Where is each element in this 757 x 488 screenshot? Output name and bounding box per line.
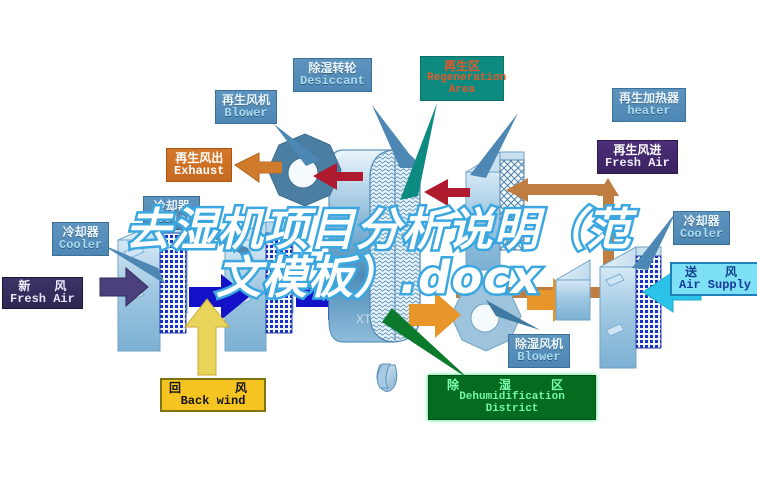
label-air-supply-en: Air Supply	[679, 279, 751, 292]
label-regen-heater-en: heater	[619, 105, 679, 118]
label-regen-exhaust-cn: 再生风出	[174, 152, 224, 165]
label-regen-blower-en: Blower	[222, 107, 270, 120]
label-dehum-district-en: Dehumidification District	[439, 392, 585, 416]
label-fresh-air: 新 风 Fresh Air	[2, 277, 83, 309]
label-cooler-mid-en: Cooler	[150, 213, 193, 226]
watermark-text: XT	[356, 312, 372, 326]
label-desiccant: 除湿转轮 Desiccant	[293, 58, 372, 92]
diagram-graphics: XT	[0, 0, 757, 488]
label-back-wind: 回 风 Back wind	[160, 378, 266, 412]
label-back-wind-en: Back wind	[169, 395, 257, 408]
label-regen-fresh-air-cn: 再生风进	[605, 144, 670, 157]
label-air-supply-cn: 送 风	[679, 266, 751, 279]
label-cooler-right-en: Cooler	[680, 228, 723, 241]
label-cooler-left: 冷却器 Cooler	[52, 222, 109, 256]
label-cooler-left-en: Cooler	[59, 239, 102, 252]
label-desiccant-cn: 除湿转轮	[300, 62, 365, 75]
label-cooler-left-cn: 冷却器	[59, 226, 102, 239]
label-desiccant-en: Desiccant	[300, 75, 365, 88]
label-regen-fresh-air-en: Fresh Air	[605, 157, 670, 170]
label-dehum-blower-en: Blower	[515, 351, 563, 364]
supply-duct-box	[556, 260, 590, 320]
label-back-wind-cn: 回 风	[169, 382, 257, 395]
label-regen-exhaust: 再生风出 Exhaust	[166, 148, 232, 182]
label-regen-blower-cn: 再生风机	[222, 94, 270, 107]
label-dehum-district: 除 湿 区 Dehumidification District	[428, 375, 596, 420]
label-cooler-right-cn: 冷却器	[680, 215, 723, 228]
label-fresh-air-en: Fresh Air	[10, 293, 75, 306]
label-fresh-air-cn: 新 风	[10, 280, 75, 293]
label-regeneration-area-en: Regeneration Area	[427, 73, 497, 97]
label-regen-heater-cn: 再生加热器	[619, 92, 679, 105]
condensate-water-drop	[377, 364, 397, 392]
label-dehum-blower: 除湿风机 Blower	[508, 334, 570, 368]
label-cooler-right: 冷却器 Cooler	[673, 211, 730, 245]
post-cooling-coil-unit	[600, 247, 661, 368]
label-cooler-mid-cn: 冷却器	[150, 200, 193, 213]
label-regeneration-area: 再生区 Regeneration Area	[420, 56, 504, 101]
label-regen-blower: 再生风机 Blower	[215, 90, 277, 124]
label-dehum-blower-cn: 除湿风机	[515, 338, 563, 351]
label-regen-heater: 再生加热器 heater	[612, 88, 686, 122]
label-air-supply: 送 风 Air Supply	[670, 262, 757, 296]
label-cooler-mid: 冷却器 Cooler	[143, 196, 200, 230]
label-regen-fresh-air: 再生风进 Fresh Air	[597, 140, 678, 174]
label-regeneration-area-cn: 再生区	[427, 60, 497, 73]
label-dehum-district-cn: 除 湿 区	[439, 379, 585, 392]
label-regen-exhaust-en: Exhaust	[174, 165, 224, 178]
diagram-canvas: XT 除湿转轮 Desiccant 再生风机 Blower 再生风出 Exhau…	[0, 0, 757, 488]
regen-hot-arrow-2	[424, 179, 470, 206]
